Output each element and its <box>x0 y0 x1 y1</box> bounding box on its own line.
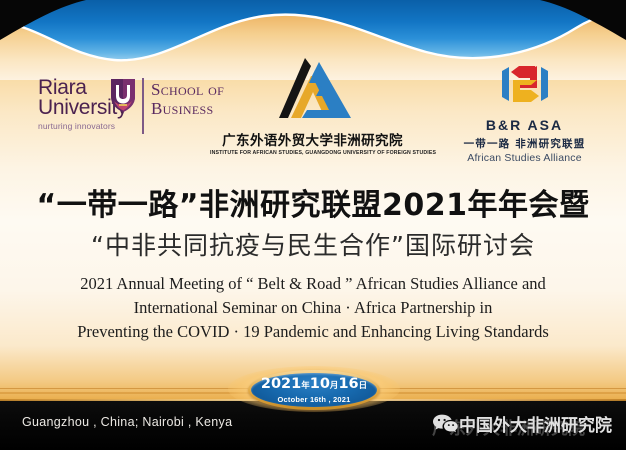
basa-name-en: African Studies Alliance <box>432 152 617 164</box>
basa-name-cn: 一带一路 非洲研究联盟 <box>432 136 617 151</box>
poster-title-cn-main: “一带一路”非洲研究联盟2021年年会暨 <box>0 180 626 224</box>
logo-row: Riara University nurturing innovators Sc… <box>0 60 626 165</box>
date-cn: 2021年10月16日 <box>261 377 367 394</box>
poster-title-en: 2021 Annual Meeting of “ Belt & Road ” A… <box>0 272 626 344</box>
venue-text: Guangzhou , China; Nairobi , Kenya <box>22 415 232 429</box>
poster-title-cn-sub: “中非共同抗疫与民生合作”国际研讨会 <box>0 226 626 262</box>
date-year: 2021 <box>261 376 301 392</box>
riara-name-line2: University <box>38 98 158 118</box>
corner-accent-top-left <box>0 0 120 46</box>
corner-accent-top-right <box>506 0 626 46</box>
gdufs-name-en: INSTITUTE FOR AFRICAN STUDIES, GUANGDONG… <box>210 150 415 156</box>
gdufs-name-cn: 广东外语外贸大学非洲研究院 <box>210 129 415 149</box>
watermark-text: 中国外大非洲研究院 <box>459 411 612 436</box>
poster-title-en-line3: Preventing the COVID · 19 Pandemic and E… <box>0 320 626 344</box>
logo-riara-university: Riara University nurturing innovators Sc… <box>38 78 238 148</box>
basa-abbreviation: B&R ASA <box>432 117 617 133</box>
wechat-icon <box>432 413 458 433</box>
riara-wordmark: Riara University nurturing innovators <box>38 78 158 131</box>
riara-logo-divider <box>142 78 144 134</box>
shield-crest-icon <box>108 77 138 113</box>
date-month: 10 <box>310 376 330 392</box>
hexagon-s-logo-icon <box>497 58 553 110</box>
date-en: October 16th , 2021 <box>278 395 351 404</box>
date-badge: 2021年10月16日 October 16th , 2021 <box>251 373 377 407</box>
date-unit-day: 日 <box>359 381 368 391</box>
logo-gdufs-african-studies: 广东外语外贸大学非洲研究院 INSTITUTE FOR AFRICAN STUD… <box>210 56 415 164</box>
riara-tagline: nurturing innovators <box>38 121 158 131</box>
poster-title-en-line2: International Seminar on China · Africa … <box>0 296 626 320</box>
wechat-watermark: 广东外大非洲研究院 中国外大非洲研究院 <box>432 409 612 437</box>
date-day: 16 <box>338 376 358 392</box>
date-unit-year: 年 <box>301 381 310 391</box>
mountain-triangle-logo-icon <box>271 56 355 122</box>
poster-title-en-line1: 2021 Annual Meeting of “ Belt & Road ” A… <box>0 272 626 296</box>
logo-br-asa: B&R ASA 一带一路 非洲研究联盟 African Studies Alli… <box>432 58 617 168</box>
riara-name: Riara University <box>38 78 158 118</box>
conference-poster: Riara University nurturing innovators Sc… <box>0 0 626 450</box>
